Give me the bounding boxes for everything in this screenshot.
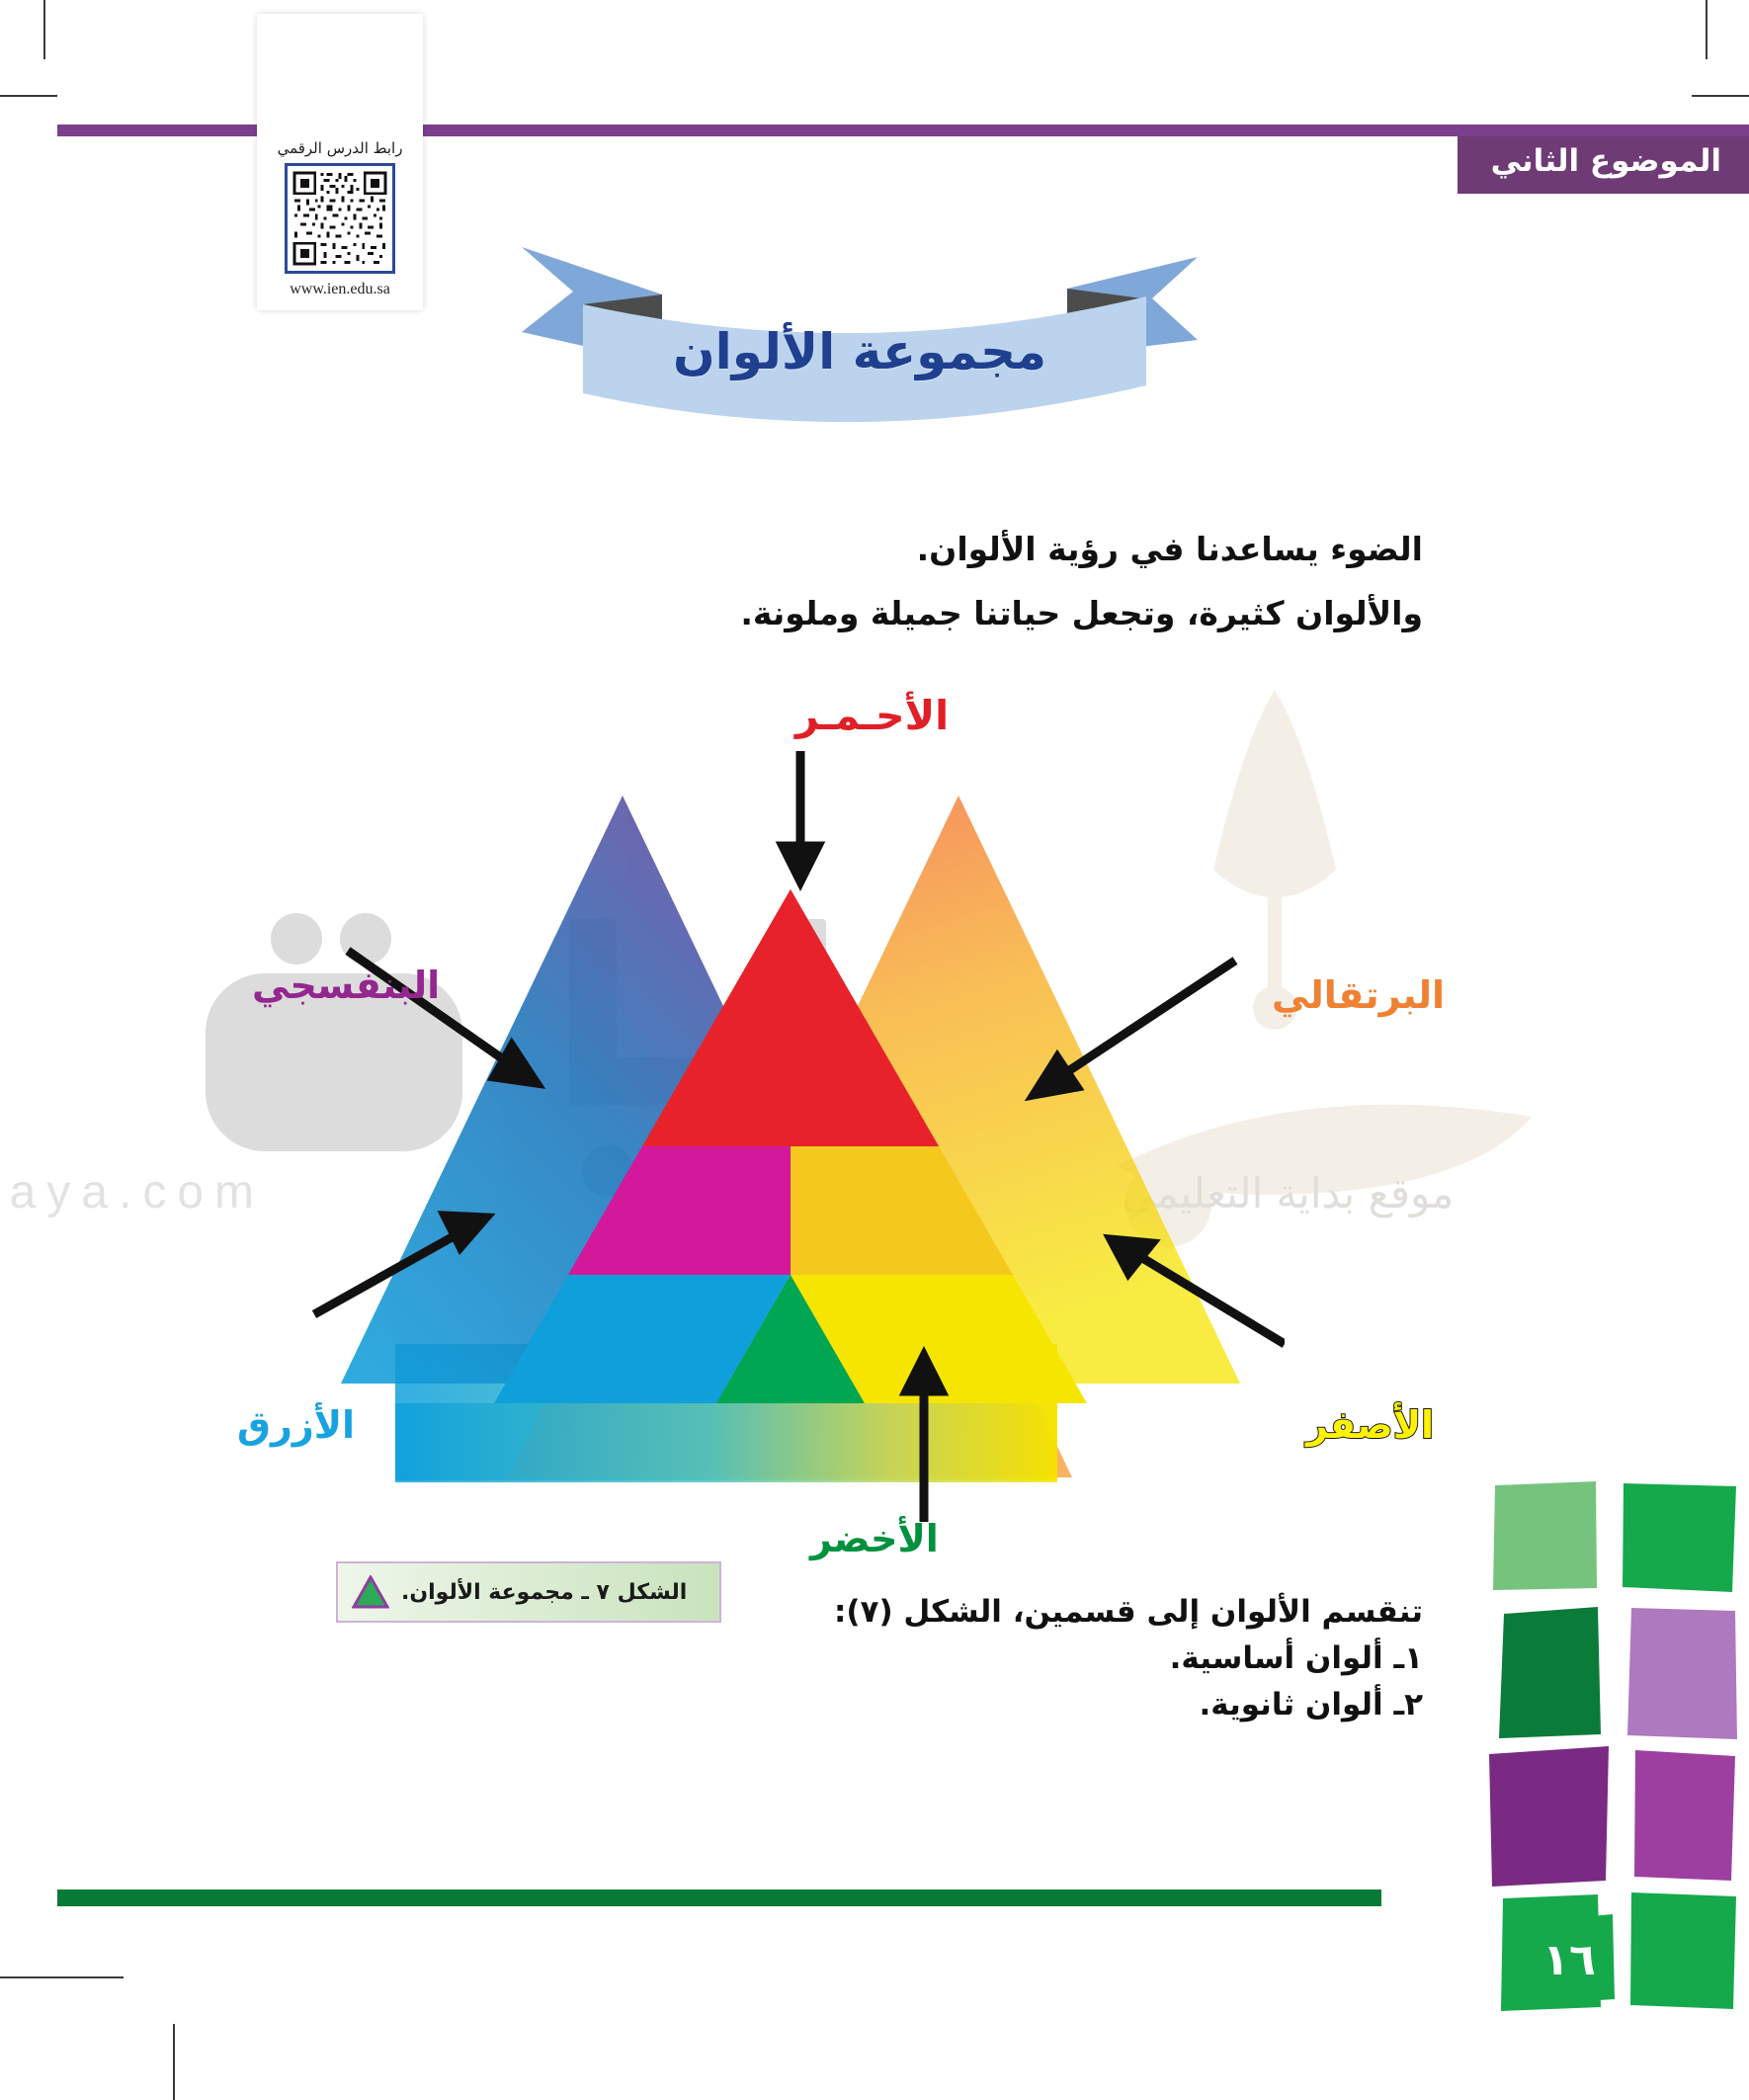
intro-paragraph: الضوء يساعدنا في رؤية الألوان. والألوان … <box>553 529 1423 658</box>
crop-mark-left-top <box>0 95 57 97</box>
label-orange: البرتقالي <box>1272 973 1445 1017</box>
triangle-icon <box>352 1575 389 1609</box>
closing-text: تنقسم الألوان إلى قسمين، الشكل (٧): ١ـ أ… <box>810 1589 1423 1728</box>
label-green: الأخضر <box>810 1517 939 1560</box>
color-triangle-figure <box>296 751 1285 1581</box>
topic-badge: الموضوع الثاني <box>1457 136 1749 194</box>
page-number-text: ١٦ <box>1542 1935 1596 1985</box>
crop-mark-top-left <box>43 0 45 59</box>
qr-caption: رابط الدرس الرقمي <box>278 139 403 157</box>
intro-line-2: والألوان كثيرة، وتجعل حياتنا جميلة وملون… <box>553 593 1423 633</box>
label-yellow: الأصفر <box>1306 1403 1434 1447</box>
qr-url[interactable]: www.ien.edu.sa <box>290 281 390 298</box>
figure-caption-box: الشكل ٧ ـ مجموعة الألوان. <box>336 1561 721 1623</box>
footer-rule <box>57 1890 1381 1906</box>
banner: مجموعة الألوان <box>514 237 1206 435</box>
banner-title: مجموعة الألوان <box>514 253 1206 451</box>
label-blue: الأزرق <box>237 1403 355 1447</box>
qr-code-icon[interactable] <box>285 163 395 274</box>
crop-mark-left-bottom <box>0 1976 124 1978</box>
figure-caption-text: الشكل ٧ ـ مجموعة الألوان. <box>401 1580 687 1605</box>
closing-item-1: ١ـ ألوان أساسية. <box>810 1636 1423 1682</box>
crop-mark-right-top <box>1692 95 1749 97</box>
label-red: الأحـمـر <box>795 692 949 739</box>
qr-card[interactable]: رابط الدرس الرقمي <box>257 14 423 310</box>
crop-mark-top-right <box>1706 0 1707 59</box>
label-purple: البنفسجي <box>252 964 440 1007</box>
watermark-site: beadaya.com <box>0 1166 265 1218</box>
closing-line-1: تنقسم الألوان إلى قسمين، الشكل (٧): <box>810 1589 1423 1636</box>
intro-line-1: الضوء يساعدنا في رؤية الألوان. <box>553 529 1423 569</box>
page-number: ١٦ <box>1522 1912 1617 2007</box>
closing-item-2: ٢ـ ألوان ثانوية. <box>810 1682 1423 1728</box>
crop-mark-bottom-left <box>173 2024 175 2100</box>
